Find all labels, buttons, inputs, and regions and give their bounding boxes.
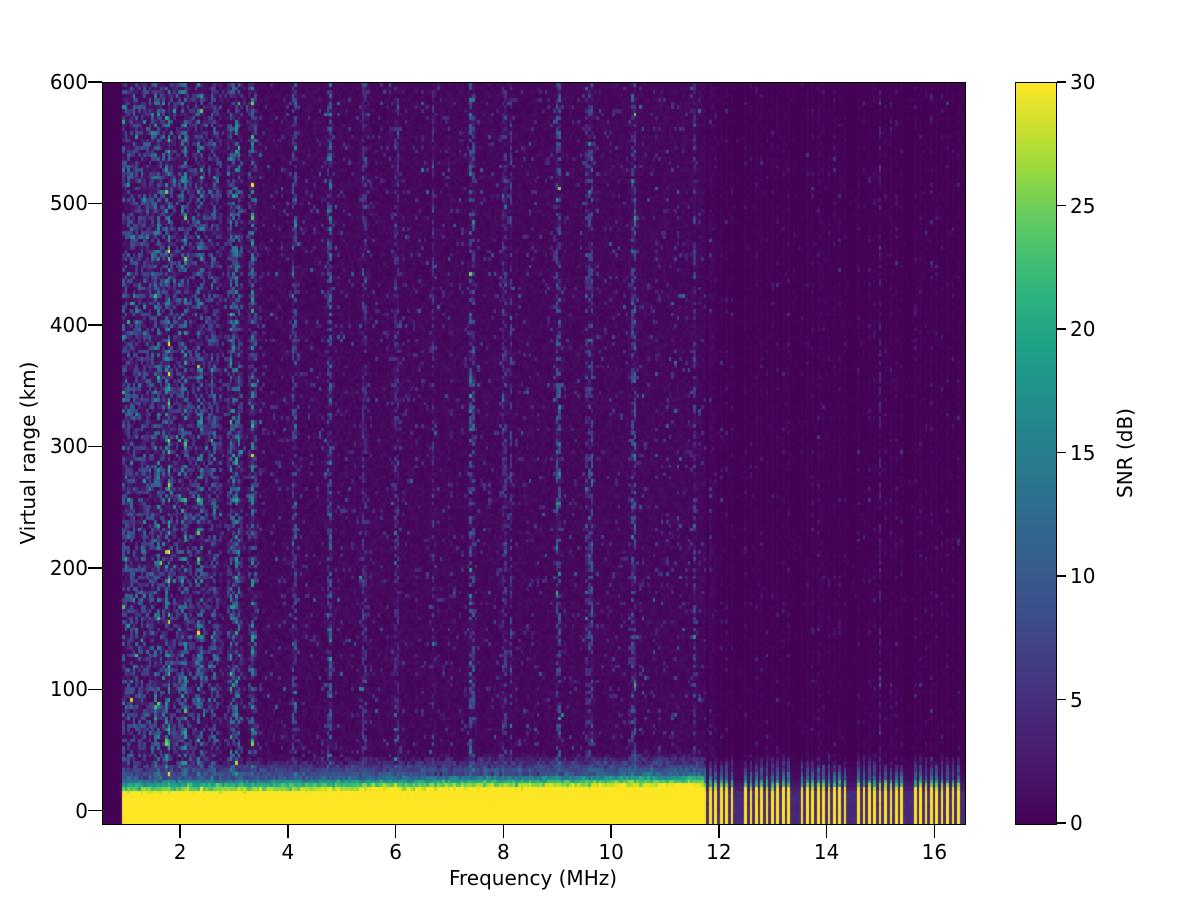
y-axis-tick-label: 300	[50, 434, 88, 458]
y-axis-tick	[88, 810, 102, 811]
colorbar	[1015, 82, 1057, 825]
x-axis-tick-label: 10	[598, 840, 623, 864]
colorbar-tick	[1057, 699, 1066, 700]
colorbar-tick	[1057, 205, 1066, 206]
y-axis-tick-label: 100	[50, 677, 88, 701]
y-axis-label: Virtual range (km)	[16, 361, 40, 544]
x-axis-tick	[287, 824, 288, 838]
colorbar-tick-label: 30	[1070, 70, 1095, 94]
colorbar-tick-label: 25	[1070, 194, 1095, 218]
x-axis-tick	[179, 824, 180, 838]
y-axis-tick-label: 400	[50, 313, 88, 337]
y-axis-tick	[88, 81, 102, 82]
x-axis-tick	[503, 824, 504, 838]
x-axis-label: Frequency (MHz)	[102, 866, 964, 890]
y-axis-tick-label: 0	[75, 799, 88, 823]
colorbar-tick-label: 0	[1070, 811, 1083, 835]
ionogram-heatmap	[103, 83, 965, 824]
plot-area	[102, 82, 966, 825]
colorbar-tick	[1057, 575, 1066, 576]
colorbar-tick	[1057, 452, 1066, 453]
x-axis-tick	[395, 824, 396, 838]
y-axis-tick	[88, 203, 102, 204]
x-axis-tick-label: 2	[174, 840, 187, 864]
colorbar-label: SNR (dB)	[1113, 408, 1137, 498]
x-axis-tick	[934, 824, 935, 838]
y-axis-tick	[88, 446, 102, 447]
x-axis-tick-label: 4	[281, 840, 294, 864]
x-axis-tick-label: 12	[706, 840, 731, 864]
ionogram-figure: IRF Uppsala SDR Ionosonde UP158 2025-11-…	[0, 0, 1200, 900]
x-axis-tick	[826, 824, 827, 838]
colorbar-tick	[1057, 822, 1066, 823]
y-axis-tick	[88, 567, 102, 568]
y-axis-tick	[88, 324, 102, 325]
colorbar-tick-label: 20	[1070, 317, 1095, 341]
x-axis-tick-label: 8	[497, 840, 510, 864]
colorbar-tick-label: 10	[1070, 564, 1095, 588]
x-axis-tick-label: 14	[814, 840, 839, 864]
colorbar-tick-label: 5	[1070, 688, 1083, 712]
x-axis-tick-label: 6	[389, 840, 402, 864]
colorbar-tick	[1057, 328, 1066, 329]
y-axis-tick-label: 200	[50, 556, 88, 580]
y-axis-tick-label: 600	[50, 70, 88, 94]
y-axis-tick	[88, 689, 102, 690]
colorbar-tick-label: 15	[1070, 441, 1095, 465]
y-axis-tick-label: 500	[50, 191, 88, 215]
x-axis-tick	[610, 824, 611, 838]
x-axis-tick	[718, 824, 719, 838]
colorbar-tick	[1057, 81, 1066, 82]
x-axis-tick-label: 16	[922, 840, 947, 864]
